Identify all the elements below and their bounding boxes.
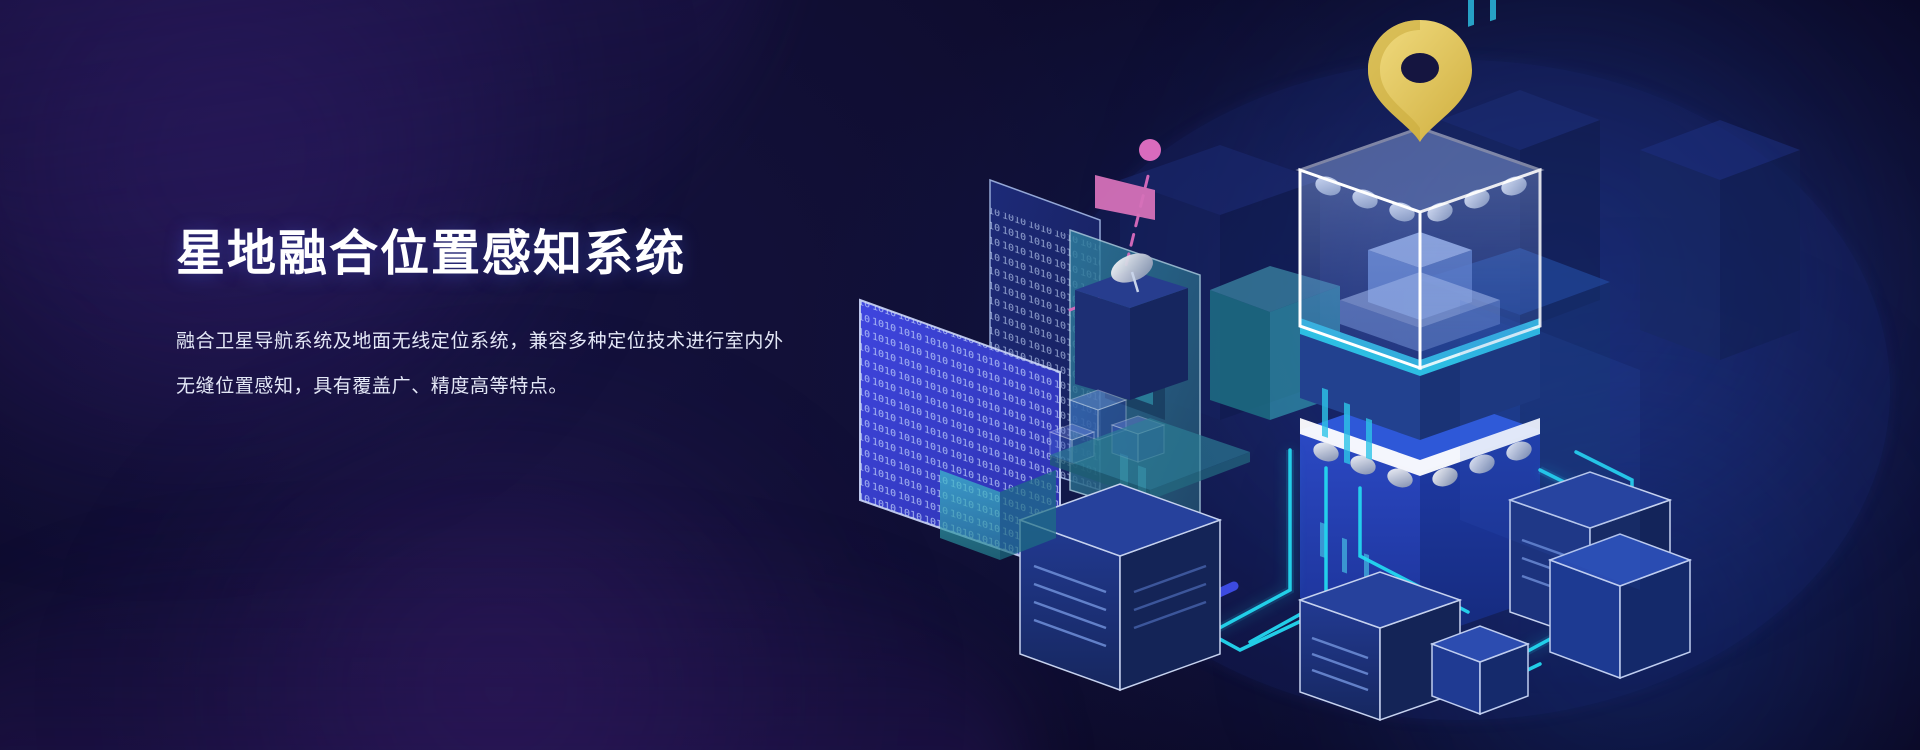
hero-copy-block: 星地融合位置感知系统 融合卫星导航系统及地面无线定位系统，兼容多种定位技术进行室… — [176, 228, 876, 409]
small-cube-bottom-right — [1432, 626, 1528, 714]
hero-description: 融合卫星导航系统及地面无线定位系统，兼容多种定位技术进行室内外 无缝位置感知，具… — [176, 320, 836, 409]
hero-banner: 星地融合位置感知系统 融合卫星导航系统及地面无线定位系统，兼容多种定位技术进行室… — [0, 0, 1920, 750]
background-glow-bottom-left — [120, 440, 880, 750]
description-line-1: 融合卫星导航系统及地面无线定位系统，兼容多种定位技术进行室内外 — [176, 320, 836, 365]
hero-illustration: 1010 1101 — [820, 0, 1920, 750]
description-line-2: 无缝位置感知，具有覆盖广、精度高等特点。 — [176, 365, 836, 410]
page-title: 星地融合位置感知系统 — [176, 228, 876, 282]
